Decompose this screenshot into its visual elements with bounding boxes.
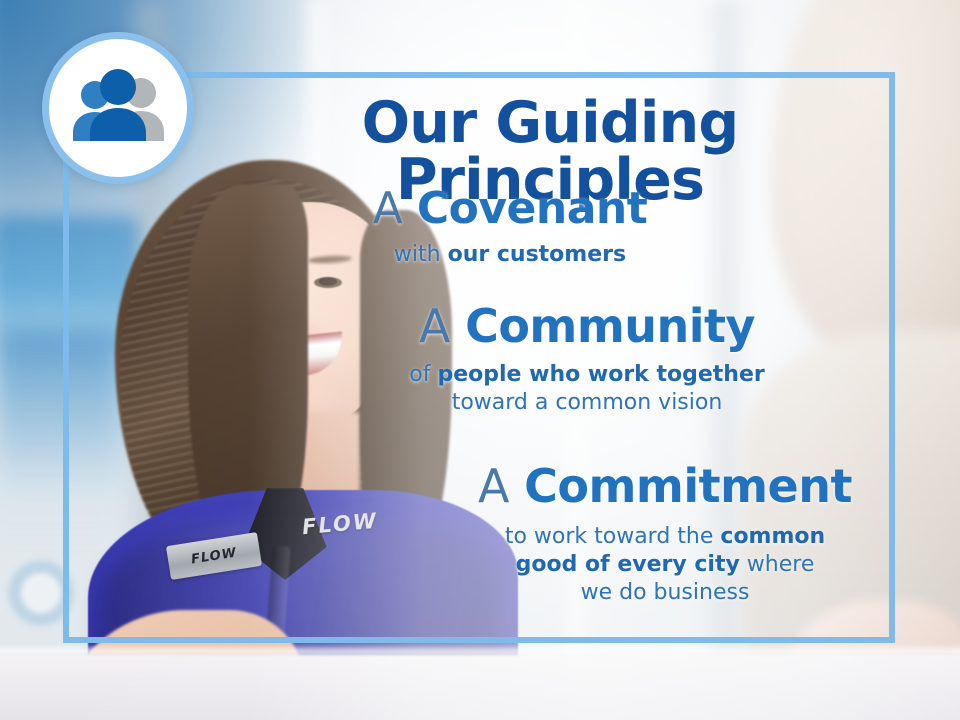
principle-heading: A Covenant	[330, 186, 690, 232]
principle-article: A	[419, 299, 450, 353]
guiding-principles-graphic: FLOW FLOW	[0, 0, 960, 720]
principle-heading: A Commitment	[440, 463, 890, 511]
principle-community: A Community of people who work togethert…	[372, 303, 802, 417]
principle-description: to work toward the commongood of every c…	[440, 523, 890, 607]
principle-description-line: of people who work together	[372, 361, 802, 389]
principle-description-line: with our customers	[330, 241, 690, 269]
principle-keyword: Commitment	[524, 459, 852, 513]
text-content: Our Guiding Principles A Covenant with o…	[0, 0, 960, 720]
principle-description: with our customers	[330, 241, 690, 269]
principle-commitment: A Commitment to work toward the commongo…	[440, 463, 890, 607]
principle-heading: A Community	[372, 303, 802, 351]
principle-description-line: toward a common vision	[372, 389, 802, 417]
principle-article: A	[373, 183, 403, 234]
principle-keyword: Community	[465, 299, 755, 353]
principle-article: A	[478, 459, 509, 513]
principle-description-line: to work toward the common	[440, 523, 890, 551]
principle-covenant: A Covenant with our customers	[330, 186, 690, 269]
principle-description: of people who work togethertoward a comm…	[372, 361, 802, 417]
principle-description-line: good of every city where	[440, 551, 890, 579]
principle-keyword: Covenant	[417, 183, 647, 234]
principle-description-line: we do business	[440, 579, 890, 607]
